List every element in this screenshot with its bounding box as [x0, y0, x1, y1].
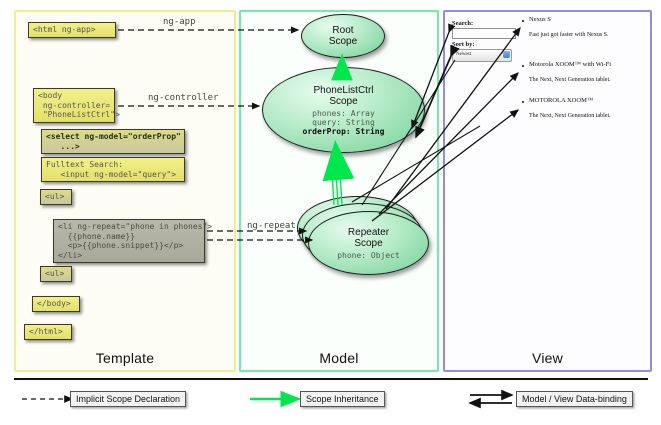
view-search-input[interactable] — [452, 28, 516, 39]
code-box-li-ng-repeat: <li ng-repeat="phone in phones"> {{phone… — [53, 219, 205, 263]
view-search-label: Search: — [452, 20, 473, 27]
panel-label-template: Template — [16, 350, 234, 366]
panel-model: Model — [239, 10, 439, 372]
code-box-body-close-tag: </body> — [32, 296, 80, 312]
scope-phonelistctrl-props: phones: Array query: String orderProp: S… — [303, 109, 385, 136]
view-sort-value: Newest — [456, 52, 471, 57]
code-box-html-tag: <html ng-app> — [28, 22, 116, 38]
code-box-ul-open-tag: <ul> — [40, 189, 72, 205]
scope-root: Root Scope — [301, 14, 385, 58]
diagram-canvas: Template Model View <html ng-app> <body … — [0, 0, 661, 425]
arrow-label-ng-app: ng-app — [163, 17, 196, 27]
arrow-label-ng-controller: ng-controller — [148, 93, 218, 103]
view-sort-label: Sort by: — [452, 41, 475, 48]
scope-phonelistctrl-title: PhoneListCtrl Scope — [313, 85, 373, 107]
view-phone-snippet: The Next, Next Generation tablet. — [529, 113, 611, 119]
code-box-select-tag: <select ng-model="orderProp" ...> — [41, 129, 185, 154]
view-phone-name: Motorola XOOM™ with Wi-Fi — [529, 61, 611, 68]
view-phone-name: MOTOROLA XOOM™ — [529, 97, 593, 104]
scope-repeater: Repeater Scope phone: Object — [308, 211, 429, 275]
view-phone-snippet: The Next, Next Generation tablet. — [529, 77, 611, 83]
legend-label-model-view-data-binding: Model / View Data-binding — [516, 391, 633, 407]
list-bullet-icon — [522, 65, 524, 67]
code-box-body-tag: <body ng-controller= "PhoneListCtrl"> — [33, 88, 115, 123]
arrow-label-ng-repeat: ng-repeat — [247, 221, 296, 231]
code-box-ul-close-tag: <ul> — [40, 266, 72, 282]
panel-label-view: View — [445, 350, 650, 366]
legend-divider — [14, 378, 648, 380]
chevron-down-icon — [503, 51, 510, 58]
scope-repeater-title: Repeater Scope — [348, 227, 389, 249]
list-bullet-icon — [522, 20, 524, 22]
legend-label-implicit-scope-declaration: Implicit Scope Declaration — [70, 391, 186, 407]
view-phone-name: Nexus S — [529, 16, 551, 23]
view-sort-select[interactable]: Newest — [452, 49, 512, 62]
legend-label-scope-inheritance: Scope Inheritance — [300, 391, 385, 407]
list-bullet-icon — [522, 101, 524, 103]
code-box-html-close-tag: </html> — [24, 324, 72, 340]
panel-label-model: Model — [241, 350, 437, 366]
view-phone-snippet: Fast just got faster with Nexus S. — [529, 32, 609, 38]
scope-phonelistctrl: PhoneListCtrl Scope phones: Array query:… — [262, 67, 425, 153]
scope-repeater-props: phone: Object — [337, 251, 400, 260]
code-box-fulltext-search: Fulltext Search: <input ng-model="query"… — [41, 157, 185, 182]
scope-root-title: Root Scope — [329, 25, 357, 47]
